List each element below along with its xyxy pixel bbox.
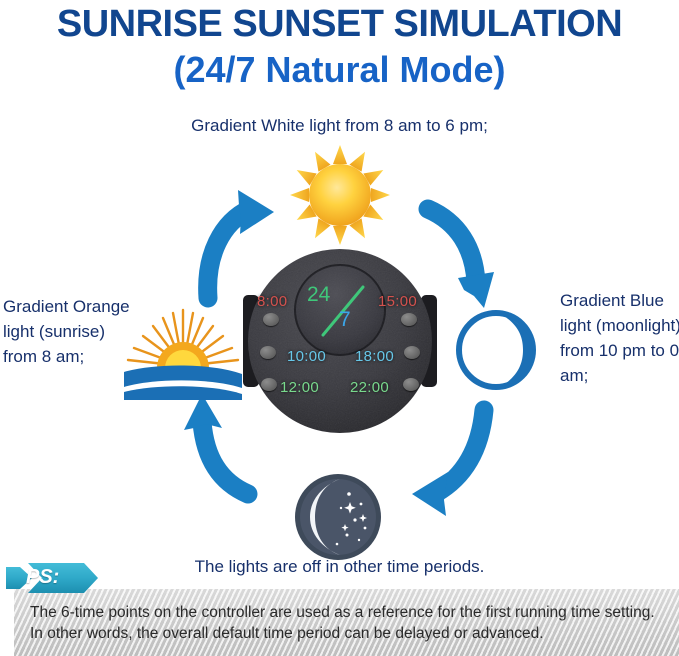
arrow-night-to-sunrise [184, 394, 248, 494]
infographic-page: SUNRISE SUNSET SIMULATION (24/7 Natural … [0, 0, 679, 656]
indicator-dot-left-3[interactable] [261, 378, 277, 391]
indicator-dot-left-1[interactable] [263, 313, 279, 326]
ps-note-body-panel: The 6-time points on the controller are … [14, 589, 679, 656]
sunrise-over-water-icon [124, 308, 242, 400]
indicator-dot-right-3[interactable] [403, 378, 419, 391]
ps-tag-label: PS: [26, 566, 59, 589]
indicator-dot-left-2[interactable] [260, 346, 276, 359]
ps-note-text: The 6-time points on the controller are … [30, 602, 660, 644]
title-line-2: (24/7 Natural Mode) [0, 48, 679, 92]
controller-device[interactable]: 24 7 8:00 15:00 10:00 18:00 12:00 22:00 [243, 247, 437, 435]
night-moon-with-stars-icon [293, 472, 383, 562]
time-label-10-00: 10:00 [287, 348, 326, 365]
logo-24-text: 24 [307, 283, 330, 307]
indicator-dot-right-2[interactable] [404, 346, 420, 359]
time-label-15-00: 15:00 [378, 293, 417, 310]
page-title: SUNRISE SUNSET SIMULATION (24/7 Natural … [0, 2, 679, 92]
ps-note-section: The 6-time points on the controller are … [0, 563, 679, 656]
indicator-dot-right-1[interactable] [401, 313, 417, 326]
time-label-8-00: 8:00 [257, 293, 287, 310]
sun-icon [288, 143, 392, 247]
caption-white-light: Gradient White light from 8 am to 6 pm; [0, 113, 679, 138]
time-label-18-00: 18:00 [355, 348, 394, 365]
caption-blue-light: Gradient Blue light (moonlight) from 10 … [560, 288, 679, 388]
crescent-moon-outline-icon [453, 307, 539, 393]
time-label-12-00: 12:00 [280, 379, 319, 396]
logo-24-7: 24 7 [305, 283, 377, 339]
title-line-1: SUNRISE SUNSET SIMULATION [0, 2, 679, 46]
controller-body [243, 247, 437, 435]
caption-orange-light: Gradient Orange light (sunrise) from 8 a… [3, 294, 131, 369]
arrow-sun-to-moonlight [428, 209, 494, 308]
logo-7-text: 7 [339, 308, 351, 332]
time-label-22-00: 22:00 [350, 379, 389, 396]
